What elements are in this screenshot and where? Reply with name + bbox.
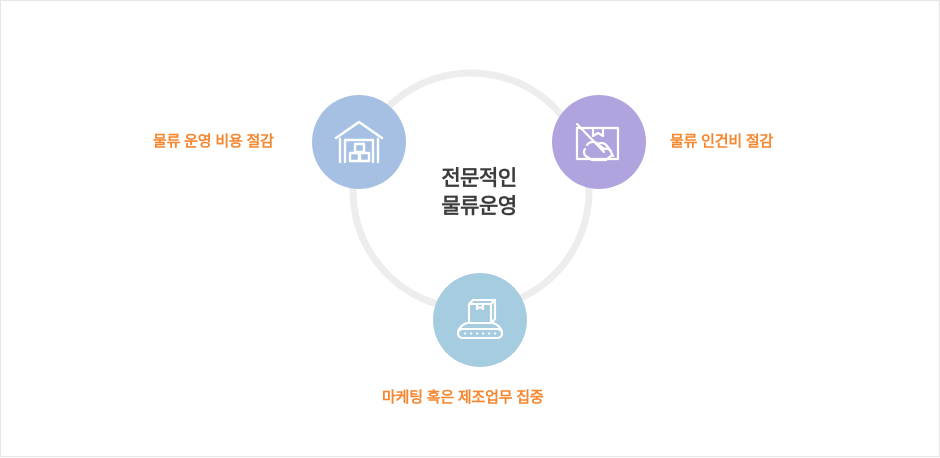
label-warehouse: 물류 운영 비용 절감 [153,133,274,151]
conveyor-box-icon [454,298,506,342]
warehouse-icon [334,119,384,165]
node-labor-cost[interactable] [552,95,646,189]
node-warehouse[interactable] [312,95,406,189]
center-title-line1: 전문적인 [399,165,559,193]
label-labor-cost: 물류 인건비 절감 [670,133,773,151]
logistics-benefits-infographic: 물류 운영 비용 절감 물류 인건비 절감 마케팅 혹은 제조업무 집중 전문적… [0,0,940,457]
center-title: 전문적인 물류운영 [399,165,559,222]
center-title-line2: 물류운영 [399,193,559,221]
label-conveyor: 마케팅 혹은 제조업무 집중 [382,389,544,407]
hand-box-no-handling-icon [573,119,625,165]
node-conveyor[interactable] [433,273,527,367]
